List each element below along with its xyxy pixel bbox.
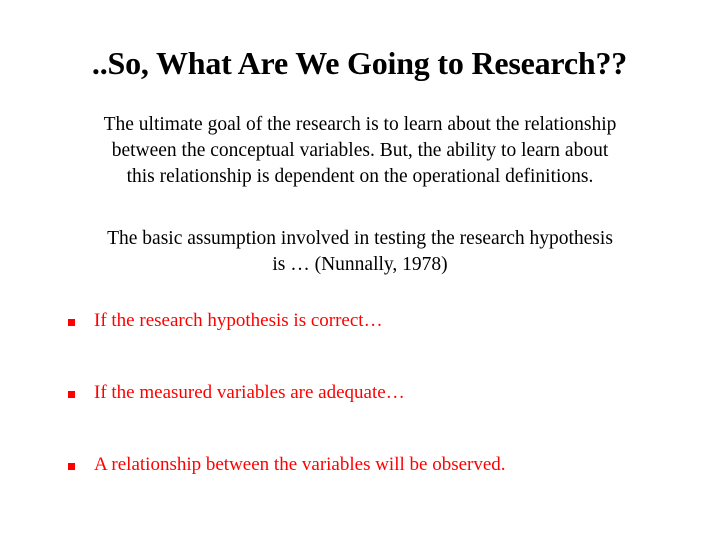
paragraph-line: is … (Nunnally, 1978): [28, 252, 692, 278]
list-item-label: If the research hypothesis is correct…: [94, 308, 383, 334]
list-item: If the research hypothesis is correct…: [64, 308, 684, 380]
paragraph-line: The ultimate goal of the research is to …: [28, 112, 692, 138]
bullet-list: If the research hypothesis is correct… I…: [64, 308, 684, 524]
paragraph-line: The basic assumption involved in testing…: [28, 226, 692, 252]
presentation-slide: ..So, What Are We Going to Research?? Th…: [0, 0, 719, 539]
body-paragraph-1: The ultimate goal of the research is to …: [28, 112, 692, 190]
square-bullet-icon: [68, 463, 75, 470]
list-item-label: If the measured variables are adequate…: [94, 380, 405, 406]
body-paragraph-2: The basic assumption involved in testing…: [28, 226, 692, 278]
list-item-label: A relationship between the variables wil…: [94, 452, 506, 478]
paragraph-line: this relationship is dependent on the op…: [28, 164, 692, 190]
list-item: If the measured variables are adequate…: [64, 380, 684, 452]
square-bullet-icon: [68, 319, 75, 326]
list-item: A relationship between the variables wil…: [64, 452, 684, 524]
paragraph-line: between the conceptual variables. But, t…: [28, 138, 692, 164]
slide-title: ..So, What Are We Going to Research??: [0, 44, 719, 82]
square-bullet-icon: [68, 391, 75, 398]
